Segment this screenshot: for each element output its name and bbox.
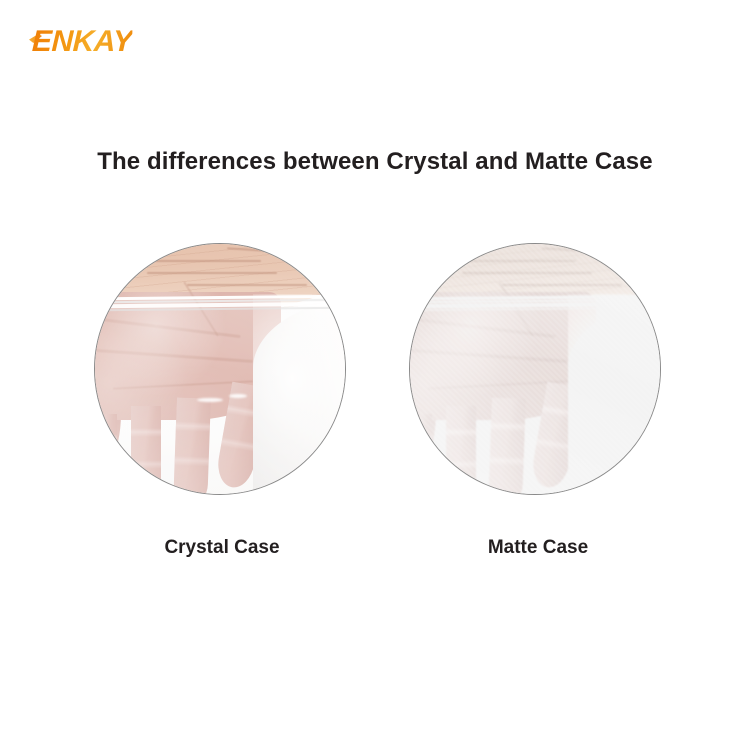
- comparison-item-crystal: [94, 243, 346, 495]
- comparison-item-matte: [409, 243, 661, 495]
- crystal-case-photo: [94, 243, 346, 495]
- caption-crystal-case: Crystal Case: [92, 537, 352, 559]
- frost-overlay: [410, 244, 660, 494]
- glass-overlay: [95, 244, 345, 494]
- page-title: The differences between Crystal and Matt…: [0, 148, 750, 176]
- comparison-row: [0, 243, 750, 498]
- product-comparison-page: ENKAY The differences between Crystal an…: [0, 0, 750, 750]
- matte-case-photo: [409, 243, 661, 495]
- brand-wordmark: ENKAY: [31, 27, 132, 57]
- caption-matte-case: Matte Case: [408, 537, 668, 559]
